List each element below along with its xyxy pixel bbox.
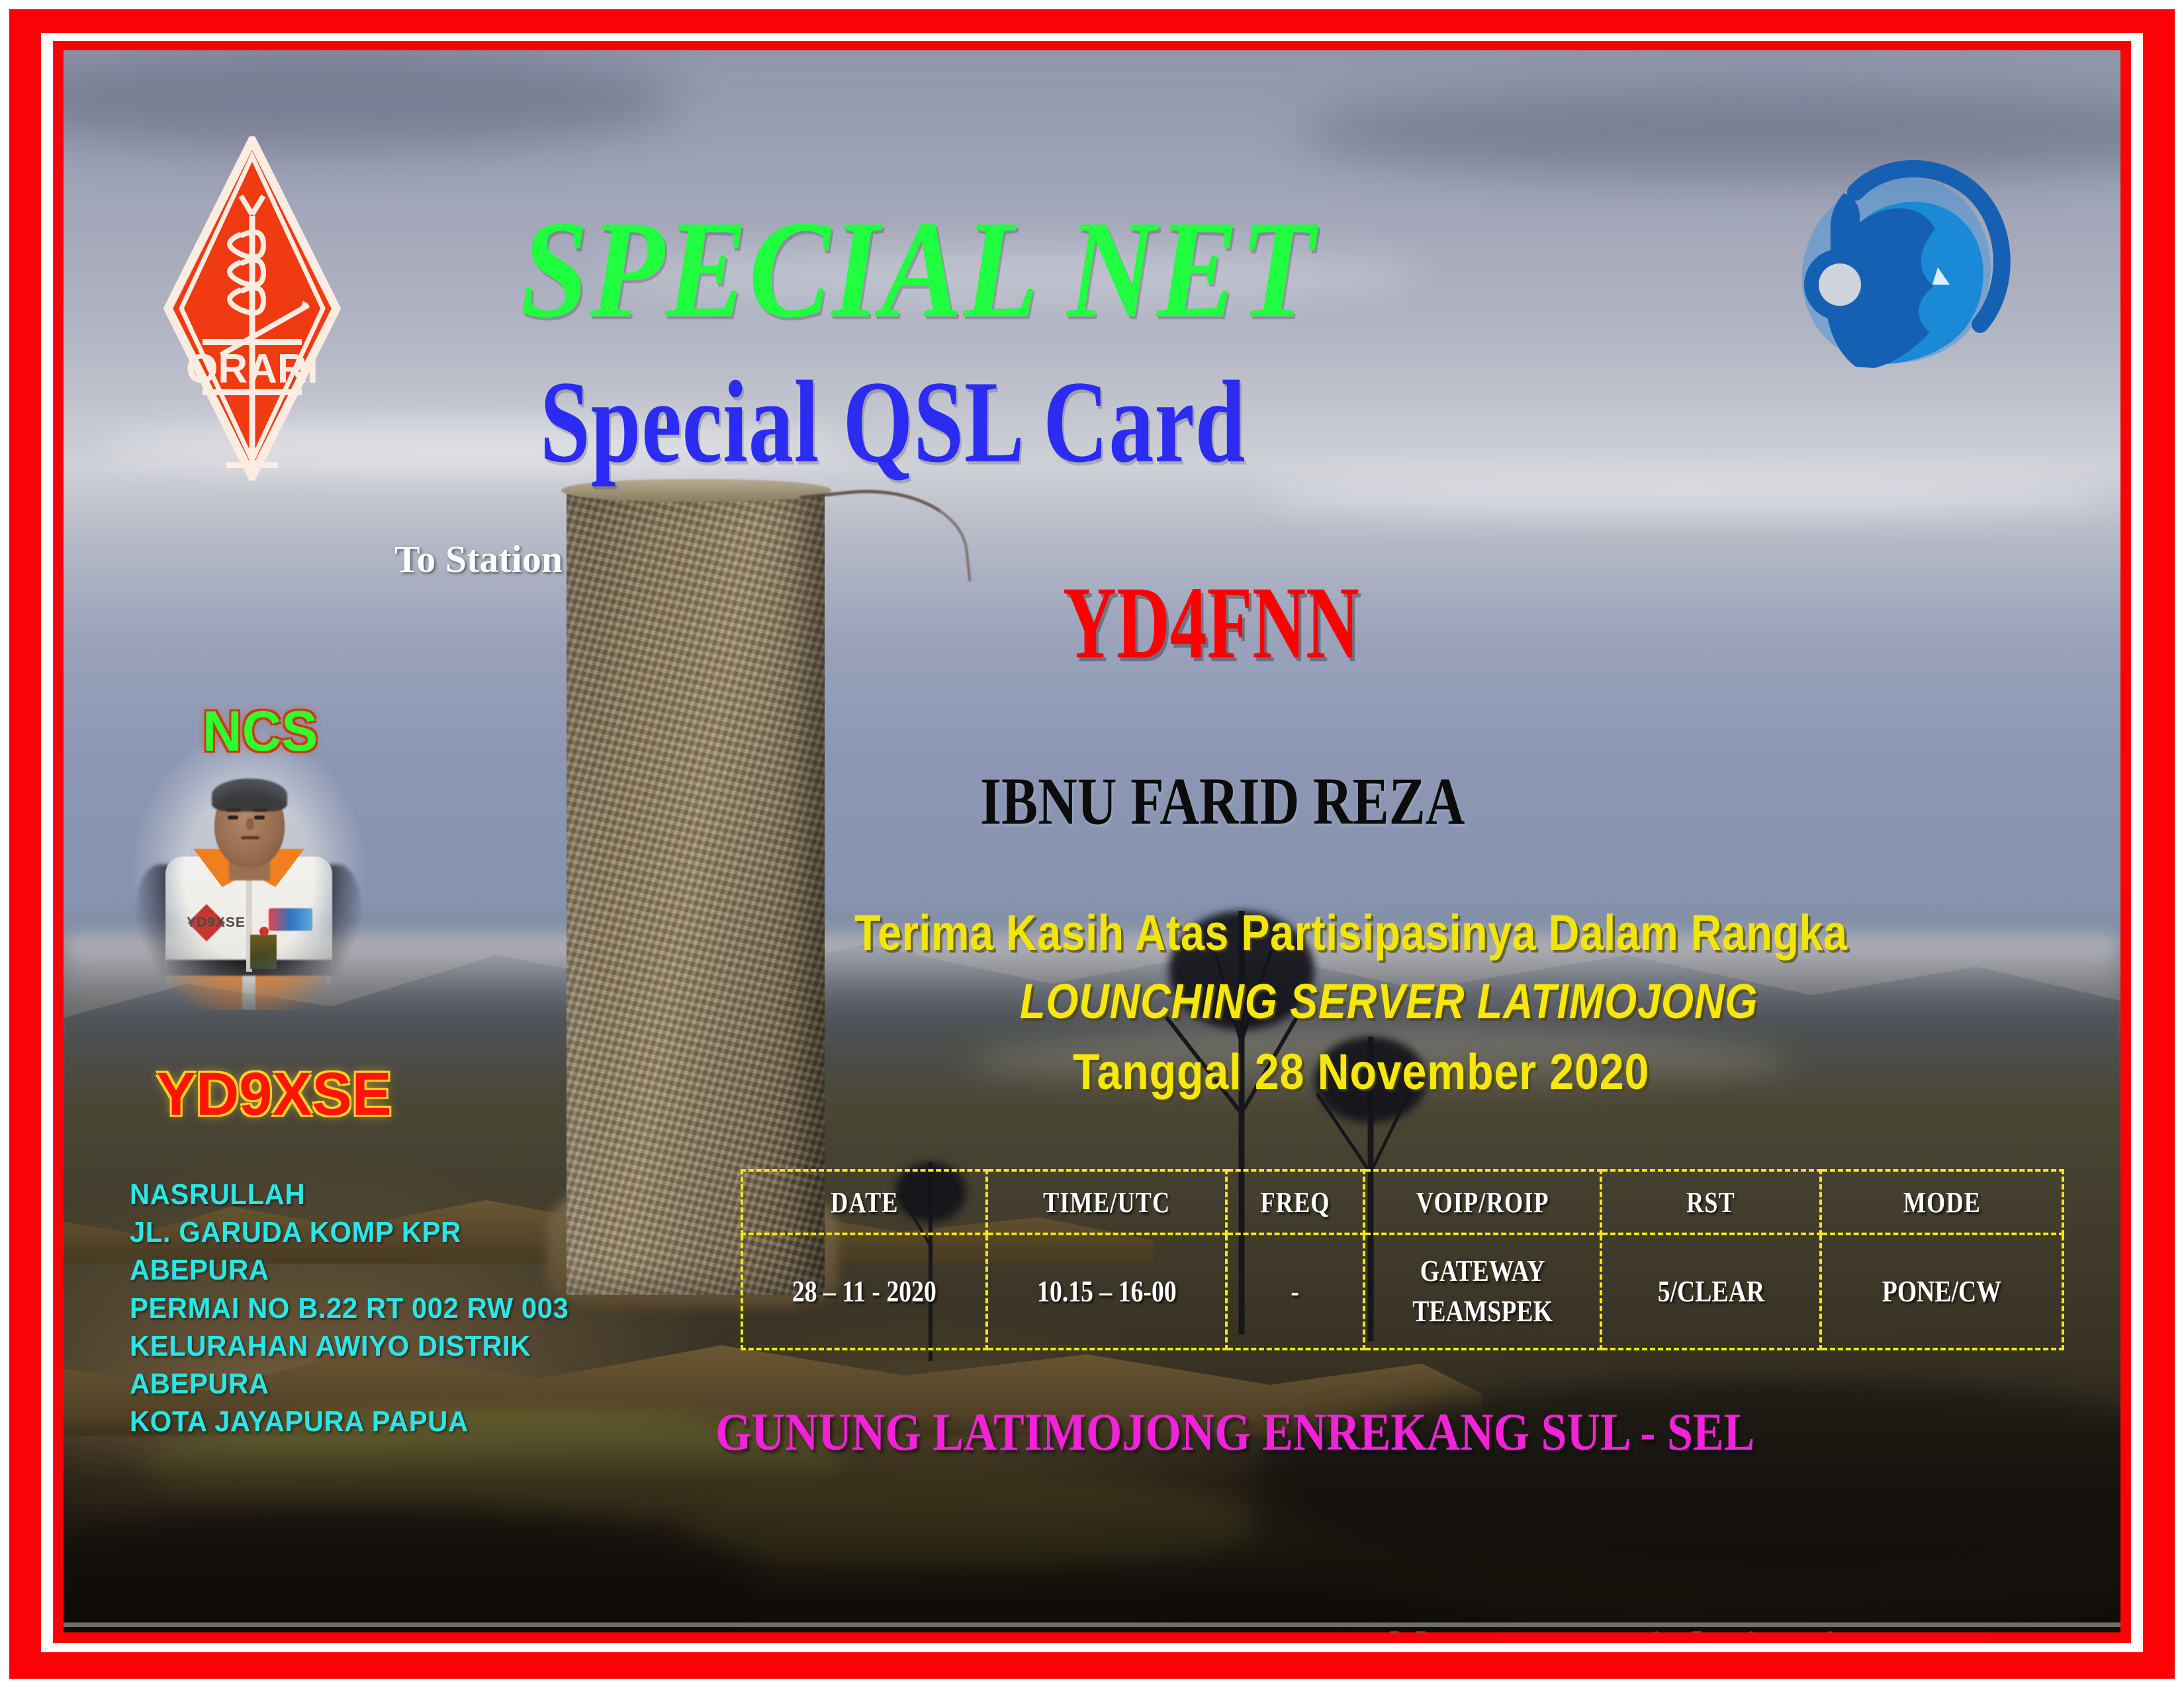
page-title: SPECIAL NET: [520, 189, 1316, 350]
location-text: GUNUNG LATIMOJONG ENREKANG SUL - SEL: [715, 1402, 1754, 1463]
orari-logo: ORARI: [163, 136, 341, 481]
website-address: Address : amatir.latimojong.com: [1341, 1620, 2008, 1632]
address-line: ABEPURA: [130, 1251, 569, 1289]
cloud-shadow: [64, 50, 680, 150]
address-line: KELURAHAN AWIYO DISTRIK: [130, 1327, 569, 1365]
to-station-label: To Station: [394, 537, 563, 581]
ncs-label: NCS: [203, 699, 318, 765]
qso-log-table: DATE TIME/UTC FREQ VOIP/ROIP RST MODE 28…: [741, 1169, 2064, 1350]
cell-rst: 5/CLEAR: [1601, 1234, 1821, 1349]
motto-text: "AMATIR RADIO ADALAH PROGRESIVE": [143, 1624, 1172, 1632]
recipient-operator-name: IBNU FARID REZA: [980, 762, 1465, 840]
sender-address-block: NASRULLAH JL. GARUDA KOMP KPR ABEPURA PE…: [130, 1176, 569, 1440]
col-header-time: TIME/UTC: [987, 1170, 1226, 1234]
col-header-voip: VOIP/ROIP: [1364, 1170, 1601, 1234]
cell-mode: PONE/CW: [1821, 1234, 2063, 1349]
table-row: 28 – 11 - 2020 10.15 – 16-00 - GATEWAY T…: [742, 1234, 2063, 1349]
cell-time: 10.15 – 16-00: [987, 1234, 1226, 1349]
address-line: NASRULLAH: [130, 1176, 569, 1213]
event-thanks-block: Terima Kasih Atas Partisipasinya Dalam R…: [854, 904, 1958, 1098]
address-line: ABEPURA: [130, 1365, 569, 1403]
table-header-row: DATE TIME/UTC FREQ VOIP/ROIP RST MODE: [742, 1170, 2063, 1234]
event-line-1: Terima Kasih Atas Partisipasinya Dalam R…: [854, 904, 1847, 962]
recipient-callsign: YD4FNN: [1063, 563, 1359, 682]
col-header-mode: MODE: [1821, 1170, 2063, 1234]
cell-voip: GATEWAY TEAMSPEK: [1364, 1234, 1601, 1349]
orari-wordmark: ORARI: [186, 346, 318, 392]
event-line-3: Tanggal 28 November 2020: [1073, 1043, 1887, 1101]
col-header-rst: RST: [1601, 1170, 1821, 1234]
event-line-2: LOUNCHING SERVER LATIMOJONG: [1020, 973, 1864, 1029]
ncs-callsign: YD9XSE: [156, 1060, 392, 1129]
address-line: KOTA JAYAPURA PAPUA: [130, 1403, 569, 1440]
col-header-freq: FREQ: [1226, 1170, 1364, 1234]
ncs-operator-photo: YD9XSE: [130, 732, 368, 1010]
address-line: JL. GARUDA KOMP KPR: [130, 1213, 569, 1251]
headphone-face-logo: [1776, 136, 2015, 368]
qsl-card: YD9XSE ORARI: [0, 0, 2184, 1688]
page-subtitle: Special QSL Card: [540, 355, 1246, 490]
uniform-callsign-text: YD9XSE: [187, 915, 246, 931]
cell-freq: -: [1226, 1234, 1364, 1349]
cell-date: 28 – 11 - 2020: [742, 1234, 987, 1349]
background-photo: YD9XSE ORARI: [64, 50, 2120, 1632]
address-line: PERMAI NO B.22 RT 002 RW 003: [130, 1289, 569, 1327]
cloud-streak: [1257, 475, 2120, 515]
col-header-date: DATE: [742, 1170, 987, 1234]
